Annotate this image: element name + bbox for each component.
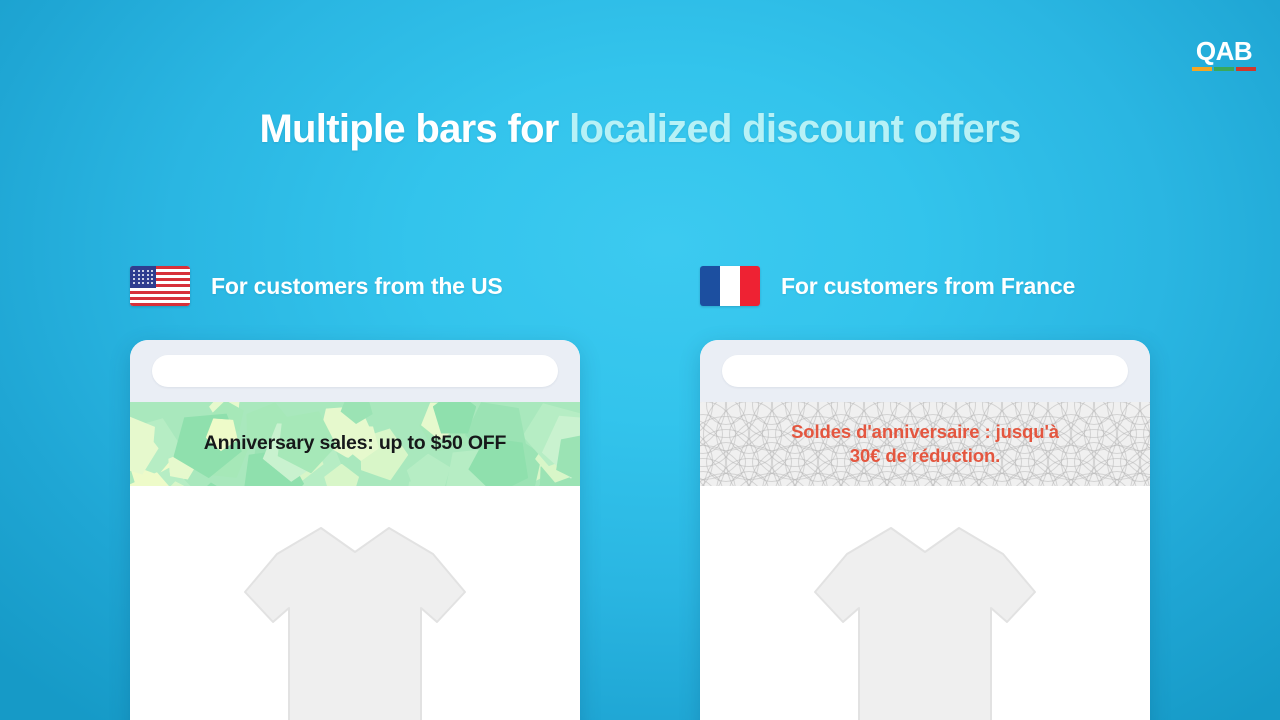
promo-bar-fr[interactable]: Soldes d'anniversaire : jusqu'à 30€ de r… <box>700 402 1150 486</box>
audience-label-fr: For customers from France <box>781 273 1075 300</box>
slide-canvas: QAB Multiple bars for localized discount… <box>0 0 1280 720</box>
audience-row-us: For customers from the US <box>130 262 503 310</box>
logo-bar-orange <box>1192 67 1212 71</box>
us-flag-icon <box>130 266 190 306</box>
browser-chrome-fr <box>700 340 1150 402</box>
us-flag-canton <box>130 266 156 288</box>
logo-wordmark: QAB <box>1192 38 1256 64</box>
france-flag-icon <box>700 266 760 306</box>
audience-label-us: For customers from the US <box>211 273 503 300</box>
column-us: For customers from the US <box>130 262 503 310</box>
phone-mockup-fr: Soldes d'anniversaire : jusqu'à 30€ de r… <box>700 340 1150 720</box>
product-area-us <box>130 486 580 720</box>
page-title-accent-part: localized discount offers <box>569 107 1020 151</box>
promo-bar-us[interactable]: Anniversary sales: up to $50 OFF <box>130 402 580 486</box>
browser-chrome-us <box>130 340 580 402</box>
audience-row-fr: For customers from France <box>700 262 1075 310</box>
promo-text-us: Anniversary sales: up to $50 OFF <box>188 431 522 457</box>
column-fr: For customers from France <box>700 262 1075 310</box>
page-title-white-part: Multiple bars for <box>259 107 558 151</box>
logo-bar-red <box>1236 67 1256 71</box>
pattern-pentagon <box>190 478 239 486</box>
logo-bar-green <box>1214 67 1234 71</box>
product-area-fr <box>700 486 1150 720</box>
promo-text-fr: Soldes d'anniversaire : jusqu'à 30€ de r… <box>775 420 1075 469</box>
promo-text-fr-line2: 30€ de réduction. <box>791 444 1059 468</box>
phone-mockup-us: Anniversary sales: up to $50 OFF <box>130 340 580 720</box>
url-bar-fr[interactable] <box>722 355 1128 387</box>
url-bar-us[interactable] <box>152 355 558 387</box>
qab-logo: QAB <box>1192 38 1256 71</box>
logo-color-bars <box>1192 67 1256 71</box>
us-flag-stars <box>132 269 154 285</box>
tshirt-placeholder-icon <box>807 518 1043 720</box>
tshirt-placeholder-icon <box>237 518 473 720</box>
page-title: Multiple bars for localized discount off… <box>0 106 1280 152</box>
promo-text-fr-line1: Soldes d'anniversaire : jusqu'à <box>791 420 1059 444</box>
